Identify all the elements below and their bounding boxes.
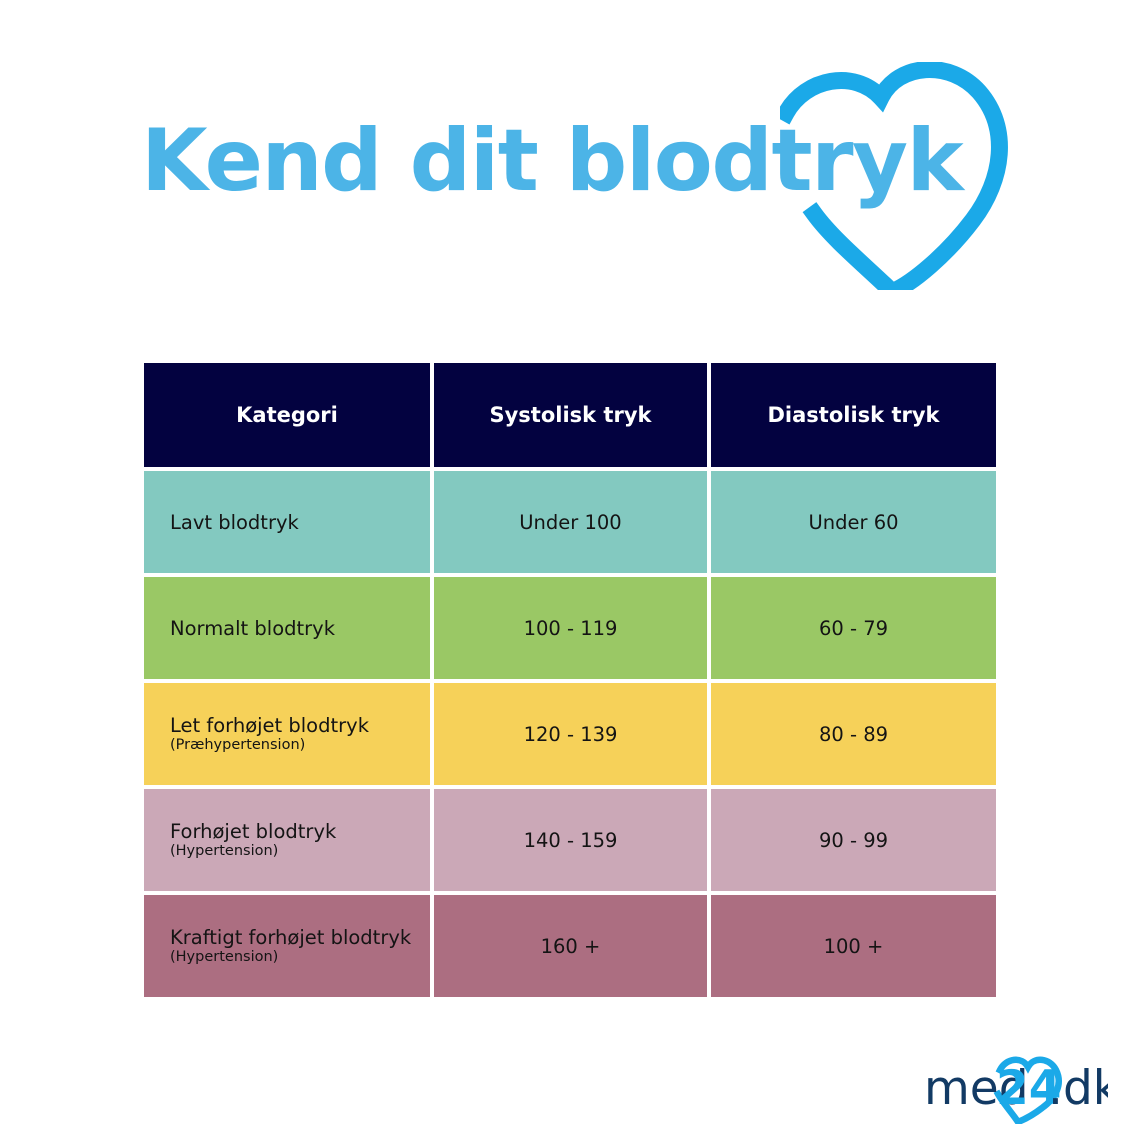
category-label: Lavt blodtryk	[170, 511, 299, 534]
cell-diastolic: 60 - 79	[711, 577, 996, 679]
table-row: Normalt blodtryk 100 - 119 60 - 79	[144, 577, 996, 679]
table-row: Kraftigt forhøjet blodtryk (Hypertension…	[144, 895, 996, 997]
cell-category: Lavt blodtryk	[144, 471, 430, 573]
med24-logo: med 24 .dk	[922, 1048, 1108, 1124]
category-label: Kraftigt forhøjet blodtryk	[170, 926, 411, 949]
logo-text-dk: .dk	[1048, 1061, 1108, 1116]
cell-category: Forhøjet blodtryk (Hypertension)	[144, 789, 430, 891]
category-subtitle: (Hypertension)	[170, 949, 411, 966]
cell-diastolic: 90 - 99	[711, 789, 996, 891]
category-label: Forhøjet blodtryk	[170, 820, 336, 843]
blood-pressure-table: Kategori Systolisk tryk Diastolisk tryk …	[144, 363, 996, 997]
page-title: Kend dit blodtryk	[141, 118, 962, 204]
table-row: Let forhøjet blodtryk (Præhypertension) …	[144, 683, 996, 785]
table-row: Lavt blodtryk Under 100 Under 60	[144, 471, 996, 573]
column-header-kategori: Kategori	[144, 363, 430, 467]
table-header-row: Kategori Systolisk tryk Diastolisk tryk	[144, 363, 996, 467]
cell-diastolic: 100 +	[711, 895, 996, 997]
cell-diastolic: 80 - 89	[711, 683, 996, 785]
cell-systolic: 160 +	[434, 895, 707, 997]
category-label: Let forhøjet blodtryk	[170, 714, 369, 737]
cell-systolic: 140 - 159	[434, 789, 707, 891]
cell-category: Kraftigt forhøjet blodtryk (Hypertension…	[144, 895, 430, 997]
cell-systolic: 100 - 119	[434, 577, 707, 679]
cell-diastolic: Under 60	[711, 471, 996, 573]
cell-systolic: Under 100	[434, 471, 707, 573]
column-header-systolisk: Systolisk tryk	[434, 363, 707, 467]
cell-systolic: 120 - 139	[434, 683, 707, 785]
column-header-diastolisk: Diastolisk tryk	[711, 363, 996, 467]
table-row: Forhøjet blodtryk (Hypertension) 140 - 1…	[144, 789, 996, 891]
cell-category: Let forhøjet blodtryk (Præhypertension)	[144, 683, 430, 785]
cell-category: Normalt blodtryk	[144, 577, 430, 679]
header-banner: Kend dit blodtryk	[0, 0, 1140, 340]
category-label: Normalt blodtryk	[170, 617, 335, 640]
category-subtitle: (Hypertension)	[170, 843, 336, 860]
category-subtitle: (Præhypertension)	[170, 737, 369, 754]
